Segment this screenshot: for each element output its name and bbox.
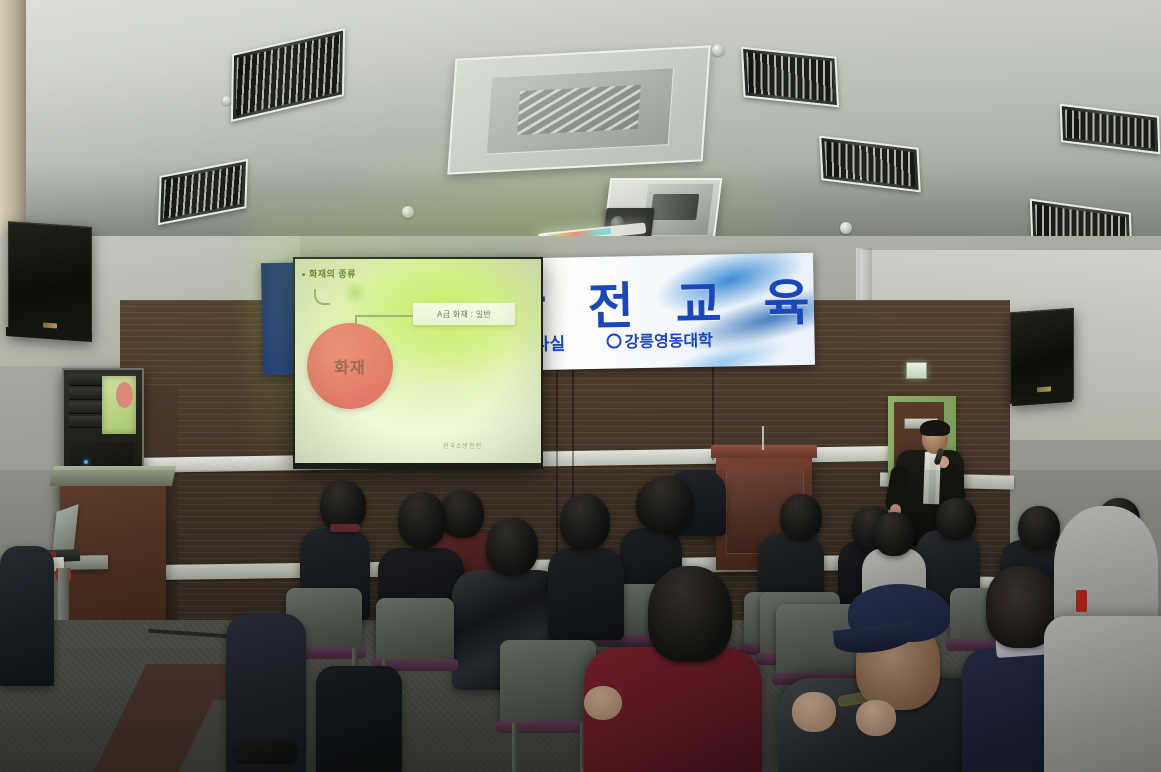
- hoodie-body: [1044, 616, 1161, 772]
- audience-hand: [792, 692, 836, 732]
- audience-head: [486, 518, 538, 576]
- audience-head: [874, 512, 914, 556]
- exit-sign: [906, 362, 927, 379]
- smoke-detector-icon: [840, 222, 852, 234]
- plaid-collar: [330, 524, 360, 532]
- banner-organization: 강릉영동대학: [606, 327, 713, 353]
- auditorium-chair[interactable]: [500, 640, 596, 724]
- wall-speaker-right: [1010, 308, 1074, 404]
- audience-torso: [0, 546, 54, 686]
- wall-speaker-left: [8, 221, 92, 341]
- audience-shoe: [232, 740, 298, 764]
- audience-head: [398, 492, 446, 548]
- hoodie-logo-tag: [1076, 590, 1087, 612]
- audience-head: [936, 498, 976, 540]
- audience-head: [560, 494, 610, 550]
- screen-vignette: [295, 259, 541, 463]
- podium-microphone-icon: [762, 426, 764, 450]
- hoodie-hood: [1054, 506, 1158, 634]
- audience-head: [780, 494, 822, 540]
- audience-torso: [316, 666, 402, 772]
- audience-torso: [548, 548, 624, 640]
- smoke-detector-icon: [402, 206, 414, 218]
- audience-head: [640, 476, 694, 532]
- power-led-blue-icon: [84, 460, 88, 464]
- projection-screen-frame: 화재의 종류 화재 A급 화재 : 일반 한국소방안전: [293, 257, 543, 469]
- rack-preview-monitor: [102, 376, 136, 434]
- college-logo-icon: [606, 333, 621, 348]
- chair-leg: [512, 722, 518, 772]
- audience-head: [1018, 506, 1060, 550]
- audience-head: [440, 490, 484, 538]
- audience-hand: [856, 700, 896, 736]
- lecture-hall-photo: 안 전 교 육 세미나실 강릉영동대학 화재의 종류 화재 A급 화재 : 일반…: [0, 0, 1161, 772]
- projection-screen: 화재의 종류 화재 A급 화재 : 일반 한국소방안전: [295, 259, 541, 463]
- smoke-detector-icon: [222, 96, 231, 105]
- audience-head: [648, 566, 732, 662]
- smoke-detector-icon: [712, 44, 724, 56]
- banner-org-text: 강릉영동대학: [624, 333, 713, 352]
- audience-hand: [584, 686, 622, 720]
- ceiling-air-conditioner: [447, 45, 710, 174]
- podium-top-surface: [711, 445, 817, 458]
- ceiling-light-fixture-icon: [741, 47, 839, 108]
- auditorium-chair[interactable]: [376, 598, 454, 662]
- side-lectern-top: [50, 466, 176, 486]
- presenter-hair: [920, 420, 950, 436]
